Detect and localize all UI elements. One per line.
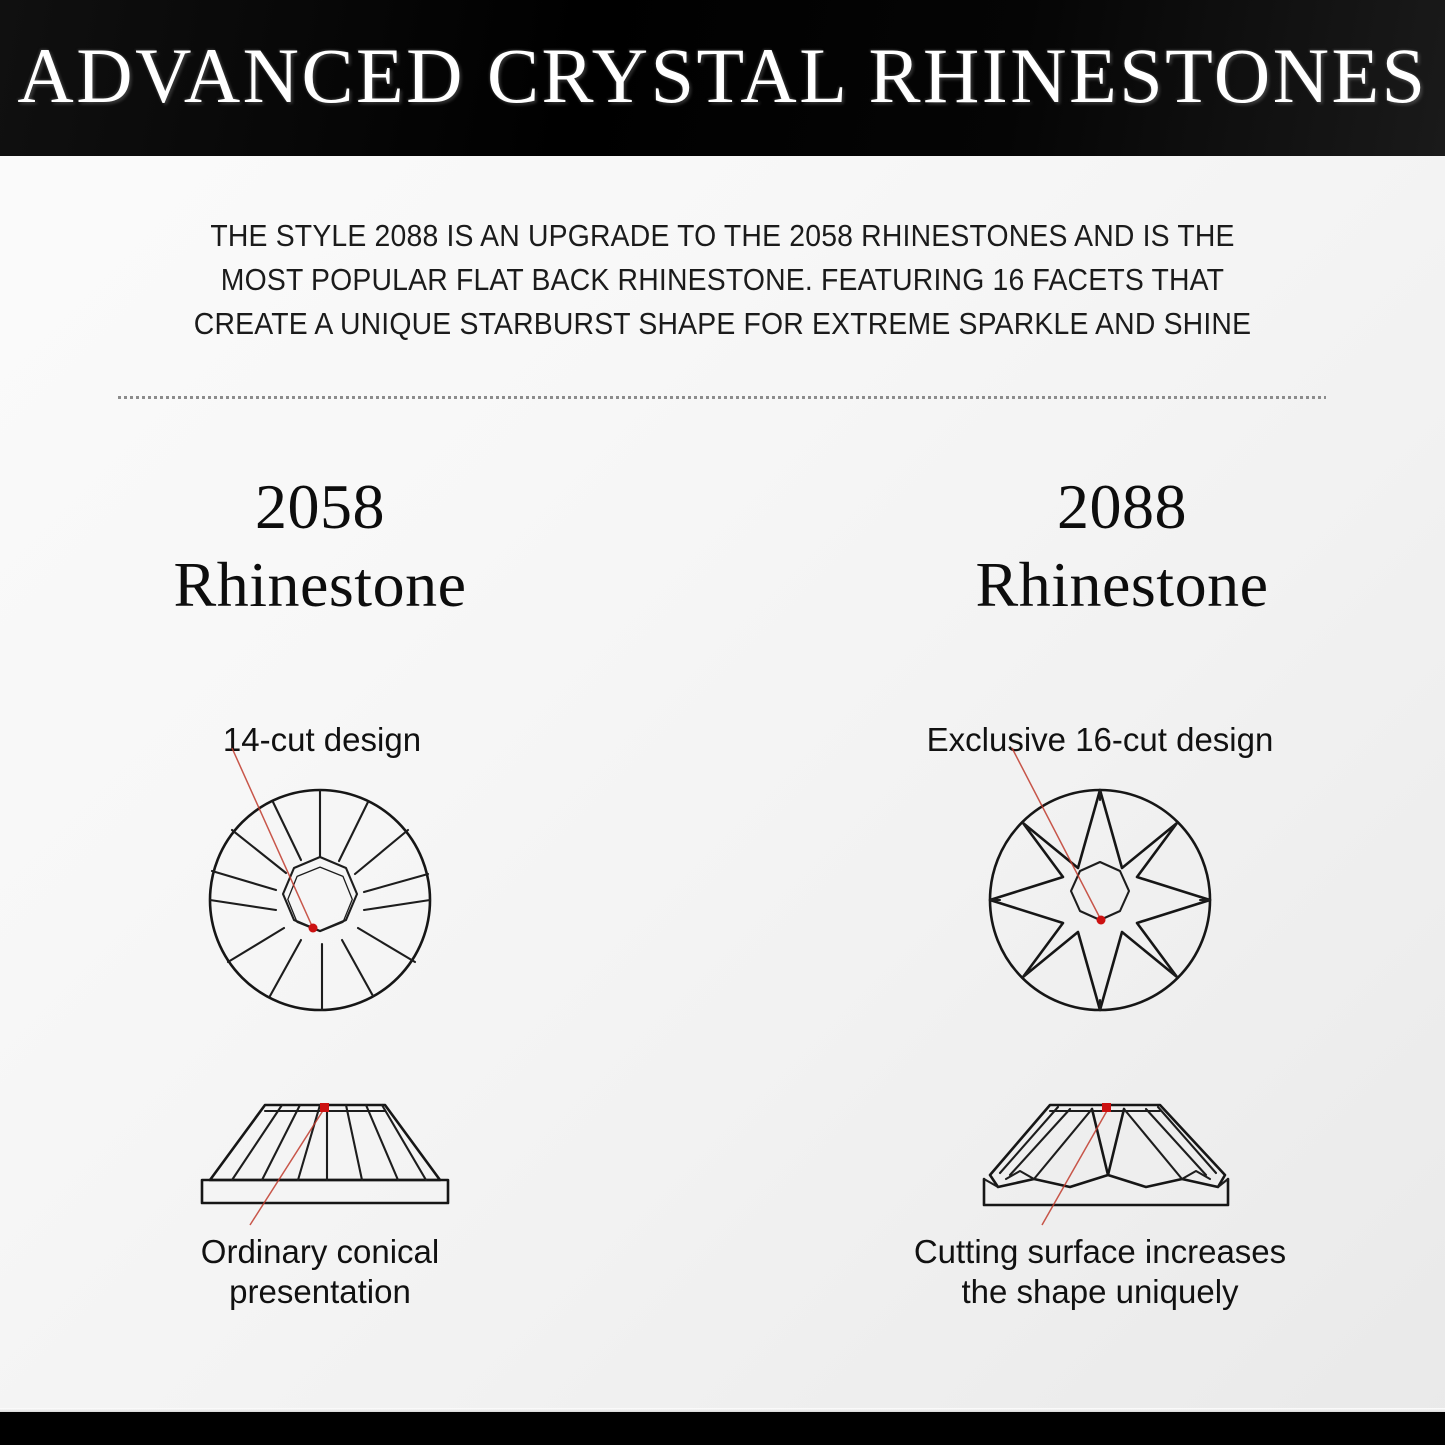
intro-line-1: THE STYLE 2088 IS AN UPGRADE TO THE 2058…: [153, 214, 1292, 258]
infographic-page: ADVANCED CRYSTAL RHINESTONES THE STYLE 2…: [0, 0, 1445, 1445]
dotted-divider: [118, 396, 1326, 399]
annotation-right-bottom-line-1: Cutting surface increases: [790, 1232, 1410, 1272]
rhinestone-side-view-conical-icon: [170, 1075, 490, 1235]
intro-line-3: CREATE A UNIQUE STARBURST SHAPE FOR EXTR…: [153, 302, 1292, 346]
column-right-word: Rhinestone: [842, 546, 1402, 624]
annotation-left-bottom: Ordinary conical presentation: [10, 1232, 630, 1312]
column-left-word: Rhinestone: [40, 546, 600, 624]
intro-line-2: MOST POPULAR FLAT BACK RHINESTONE. FEATU…: [153, 258, 1292, 302]
rhinestone-top-view-14-facet-icon: [170, 740, 490, 1040]
intro-paragraph: THE STYLE 2088 IS AN UPGRADE TO THE 2058…: [153, 214, 1292, 346]
rhinestone-top-view-16-facet-starburst-icon: [950, 740, 1270, 1040]
column-title-left: 2058 Rhinestone: [40, 468, 600, 624]
column-title-right: 2088 Rhinestone: [842, 468, 1402, 624]
rhinestone-side-view-starburst-icon: [950, 1075, 1270, 1235]
header-banner: ADVANCED CRYSTAL RHINESTONES: [0, 0, 1445, 156]
annotation-left-bottom-line-1: Ordinary conical: [10, 1232, 630, 1272]
column-right-number: 2088: [842, 468, 1402, 546]
footer-bar: [0, 1412, 1445, 1445]
annotation-right-bottom: Cutting surface increases the shape uniq…: [790, 1232, 1410, 1312]
annotation-left-bottom-line-2: presentation: [10, 1272, 630, 1312]
column-left-number: 2058: [40, 468, 600, 546]
annotation-right-bottom-line-2: the shape uniquely: [790, 1272, 1410, 1312]
page-title: ADVANCED CRYSTAL RHINESTONES: [0, 28, 1445, 124]
